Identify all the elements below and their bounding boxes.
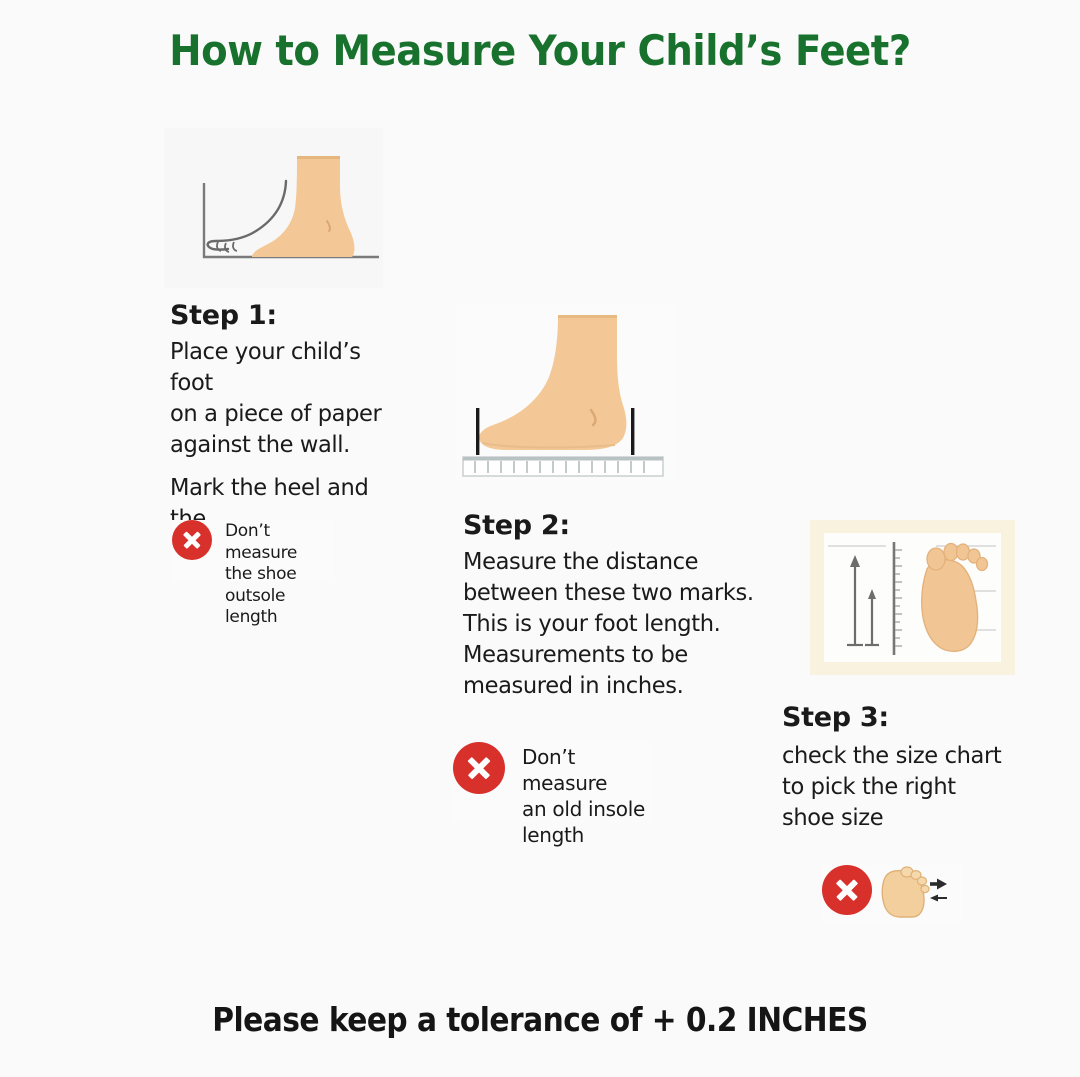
- foot-sole-with-arrows-icon: [878, 862, 948, 924]
- step-3-body-line-1: check the size chart: [782, 740, 1017, 771]
- step-1-body-line-1: Place your child’s foot: [170, 336, 410, 398]
- step-1-body-line-3: against the wall.: [170, 429, 410, 460]
- step-2-body-line-3: This is your foot length.: [463, 608, 770, 639]
- step-1-warning-line-1: Don’t measure: [225, 521, 334, 564]
- step-2-body: Measure the distance between these two m…: [463, 546, 770, 701]
- step-1-warning-text: Don’t measure the shoe outsole length: [225, 521, 334, 629]
- red-x-circle-icon: [822, 865, 872, 915]
- step-1-warning-line-2: the shoe outsole: [225, 564, 334, 607]
- step-3-body: check the size chart to pick the right s…: [782, 740, 1017, 833]
- red-x-circle-icon: [172, 520, 212, 560]
- heel-mark: [631, 408, 634, 455]
- step-1-warning: Don’t measure the shoe outsole length: [172, 520, 334, 582]
- step-2-body-line-1: Measure the distance: [463, 546, 770, 577]
- infographic-page: How to Measure Your Child’s Feet? Step 1…: [0, 0, 1080, 1077]
- page-title: How to Measure Your Child’s Feet?: [43, 26, 1037, 75]
- step-3-heading: Step 3:: [782, 702, 889, 733]
- step-3-illustration: [810, 520, 1015, 675]
- step-2-heading: Step 2:: [463, 510, 570, 541]
- size-chart-sheet: [824, 533, 1001, 662]
- step-2-body-line-5: measured in inches.: [463, 670, 770, 701]
- step-2-warning-line-2: an old insole: [522, 796, 653, 822]
- step-1-warning-line-3: length: [225, 607, 334, 629]
- step-2-warning-line-1: Don’t measure: [522, 744, 653, 796]
- step-3-body-line-3: shoe size: [782, 802, 1017, 833]
- step-1-heading: Step 1:: [170, 300, 277, 331]
- step-2-warning-line-3: length: [522, 822, 653, 848]
- step-1-body-line-2: on a piece of paper: [170, 398, 410, 429]
- toe-mark: [476, 408, 479, 455]
- tolerance-note: Please keep a tolerance of + 0.2 INCHES: [54, 1000, 1026, 1039]
- step-2-body-line-2: between these two marks.: [463, 577, 770, 608]
- step-2-illustration: [455, 305, 675, 480]
- step-2-warning-text: Don’t measure an old insole length: [522, 744, 653, 848]
- red-x-circle-icon: [453, 742, 505, 794]
- step-2-warning: Don’t measure an old insole length: [453, 742, 653, 822]
- step-1-illustration: [164, 128, 383, 288]
- foot-sole-shape: [922, 544, 988, 652]
- step-3-body-line-2: to pick the right: [782, 771, 1017, 802]
- step-2-body-line-4: Measurements to be: [463, 639, 770, 670]
